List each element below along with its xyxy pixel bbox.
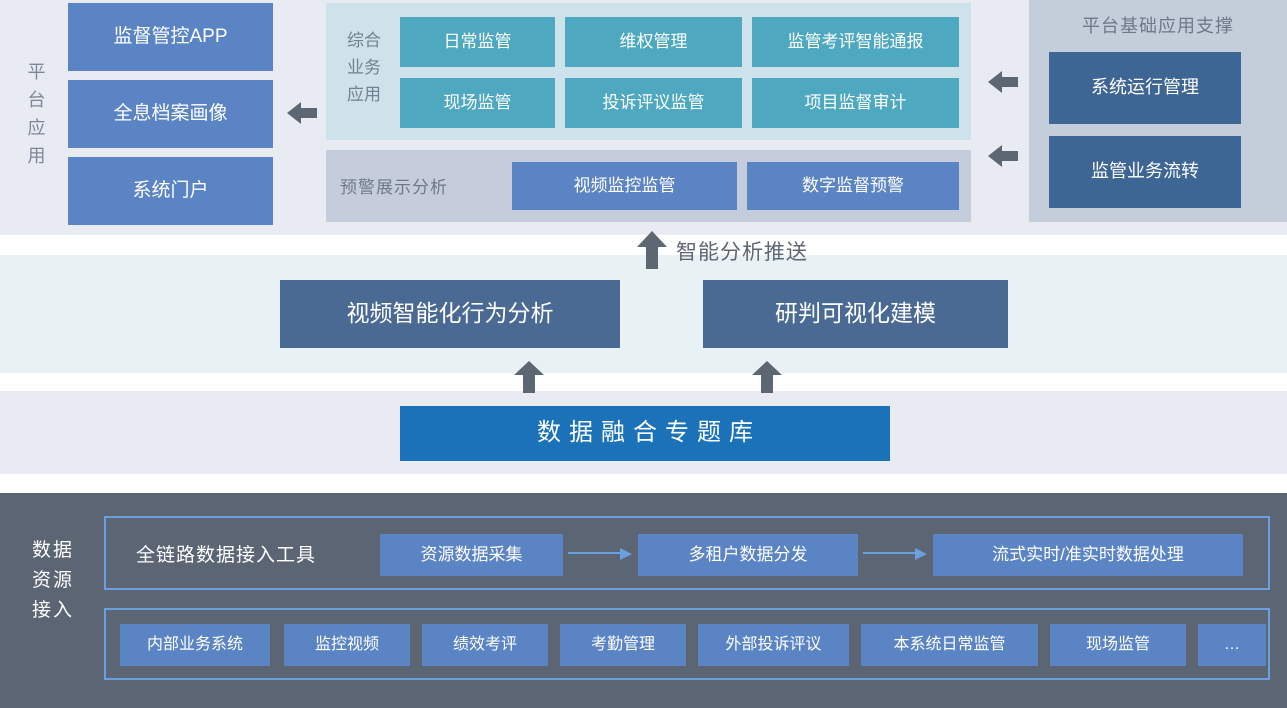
biz-box-daily-supervision[interactable]: 日常监管	[400, 17, 555, 67]
support-box-system-operation[interactable]: 系统运行管理	[1049, 52, 1241, 124]
data-fusion-library-box[interactable]: 数据融合专题库	[400, 406, 890, 461]
business-panel-label: 综合 业务 应用	[338, 27, 390, 108]
support-box-business-workflow[interactable]: 监管业务流转	[1049, 136, 1241, 208]
support-panel-title: 平台基础应用支撑	[1029, 12, 1287, 38]
left-application-stack: 监督管控APP 全息档案画像 系统门户	[68, 3, 273, 225]
warn-box-digital-alert[interactable]: 数字监督预警	[747, 162, 959, 210]
data-source-list-container: 内部业务系统 监控视频 绩效考评 考勤管理 外部投诉评议 本系统日常监管 现场监…	[104, 608, 1270, 680]
pipeline-box-stream-processing[interactable]: 流式实时/准实时数据处理	[933, 534, 1243, 576]
source-chip-onsite-supervision[interactable]: 现场监管	[1050, 624, 1186, 666]
analysis-box-video-behavior[interactable]: 视频智能化行为分析	[280, 280, 620, 348]
source-chip-attendance-management[interactable]: 考勤管理	[560, 624, 686, 666]
source-chip-external-complaint[interactable]: 外部投诉评议	[698, 624, 849, 666]
source-chip-monitoring-video[interactable]: 监控视频	[284, 624, 410, 666]
data-ingest-pipeline-container: 全链路数据接入工具 资源数据采集 多租户数据分发 流式实时/准实时数据处理	[104, 516, 1270, 590]
architecture-diagram: 平 台 应 用 监督管控APP 全息档案画像 系统门户 综合 业务 应用 日常监…	[0, 0, 1287, 708]
source-chip-performance-review[interactable]: 绩效考评	[422, 624, 548, 666]
biz-box-complaint-review[interactable]: 投诉评议监管	[565, 78, 742, 128]
biz-box-project-audit[interactable]: 项目监督审计	[752, 78, 959, 128]
analysis-box-visual-modeling[interactable]: 研判可视化建模	[703, 280, 1008, 348]
arrow-left-support-to-warning	[986, 139, 1020, 173]
source-chip-more[interactable]: …	[1198, 624, 1266, 666]
platform-base-support-panel: 平台基础应用支撑 系统运行管理 监管业务流转	[1029, 0, 1287, 222]
arrow-left-to-apps	[285, 96, 319, 130]
pipeline-box-multitenant-distribution[interactable]: 多租户数据分发	[638, 534, 858, 576]
arrow-right-distribution-to-processing	[863, 546, 928, 562]
app-box-system-portal[interactable]: 系统门户	[68, 157, 273, 225]
band-label-data-source-access: 数据 资源 接入	[18, 536, 88, 626]
app-box-holographic-archive[interactable]: 全息档案画像	[68, 80, 273, 148]
source-chip-daily-supervision[interactable]: 本系统日常监管	[861, 624, 1038, 666]
business-application-panel: 综合 业务 应用 日常监管 维权管理 监管考评智能通报 现场监管 投诉评议监管 …	[326, 3, 971, 140]
app-box-supervision-app[interactable]: 监督管控APP	[68, 3, 273, 71]
band-label-platform-apps: 平 台 应 用	[14, 58, 60, 170]
pipeline-box-resource-collection[interactable]: 资源数据采集	[380, 534, 563, 576]
band-intelligent-analysis	[0, 255, 1287, 373]
arrow-up-intelligent-push	[636, 230, 668, 270]
label-full-link-ingest-tool: 全链路数据接入工具	[136, 518, 316, 588]
warning-display-panel: 预警展示分析 视频监控监管 数字监督预警	[326, 150, 971, 222]
biz-box-rights-protection[interactable]: 维权管理	[565, 17, 742, 67]
arrow-up-to-visual-modeling	[751, 360, 783, 394]
arrow-up-to-video-analysis	[513, 360, 545, 394]
biz-box-onsite-supervision[interactable]: 现场监管	[400, 78, 555, 128]
biz-box-assessment-report[interactable]: 监管考评智能通报	[752, 17, 959, 67]
warning-panel-label: 预警展示分析	[340, 173, 448, 198]
label-intelligent-analysis-push: 智能分析推送	[676, 236, 808, 266]
source-chip-internal-business-system[interactable]: 内部业务系统	[120, 624, 270, 666]
arrow-left-support-to-business	[986, 65, 1020, 99]
warn-box-video-monitoring[interactable]: 视频监控监管	[512, 162, 737, 210]
arrow-right-collection-to-distribution	[568, 546, 633, 562]
